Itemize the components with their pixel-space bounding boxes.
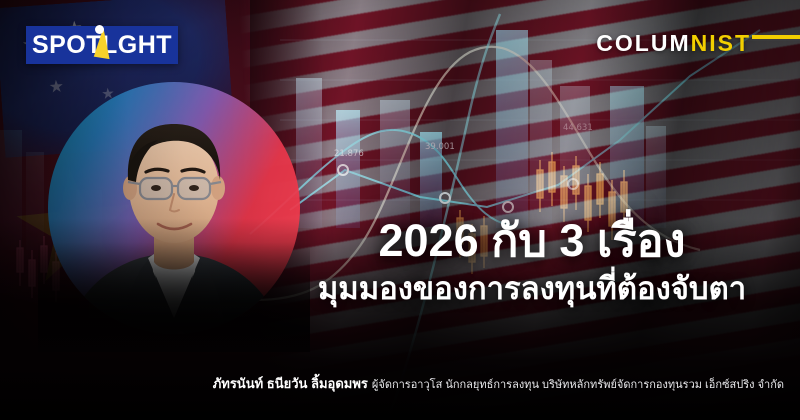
columnist-logo-white-part: COLUM xyxy=(596,30,690,57)
spotlight-bulb-icon xyxy=(95,25,104,34)
headline-block: 2026 กับ 3 เรื่อง มุมมองของการลงทุนที่ต้… xyxy=(272,216,792,308)
columnist-logo-yellow-part: NIST xyxy=(691,30,751,57)
spotlight-columnist-banner: ★ ★ ★ ★ ★ ★ ★ ★ xyxy=(0,0,800,420)
spotlight-logo-text: SPOTLGHT xyxy=(32,31,172,60)
byline: ภัทรนันท์ ธนียวัน ลิ้มอุดมพรผู้จัดการอาว… xyxy=(0,373,792,394)
byline-author-name: ภัทรนันท์ ธนียวัน ลิ้มอุดมพร xyxy=(213,376,368,391)
spotlight-logo[interactable]: SPOTLGHT xyxy=(26,26,178,64)
columnist-logo[interactable]: COLUM NIST xyxy=(596,28,800,58)
headline-line-1: 2026 กับ 3 เรื่อง xyxy=(272,216,792,266)
byline-author-role: ผู้จัดการอาวุโส นักกลยุทธ์การลงทุน บริษั… xyxy=(372,379,784,391)
headline-line-2: มุมมองของการลงทุนที่ต้องจับตา xyxy=(272,270,792,307)
columnist-logo-rule xyxy=(752,35,800,39)
spotlight-logo-text-part2: GHT xyxy=(118,31,172,59)
